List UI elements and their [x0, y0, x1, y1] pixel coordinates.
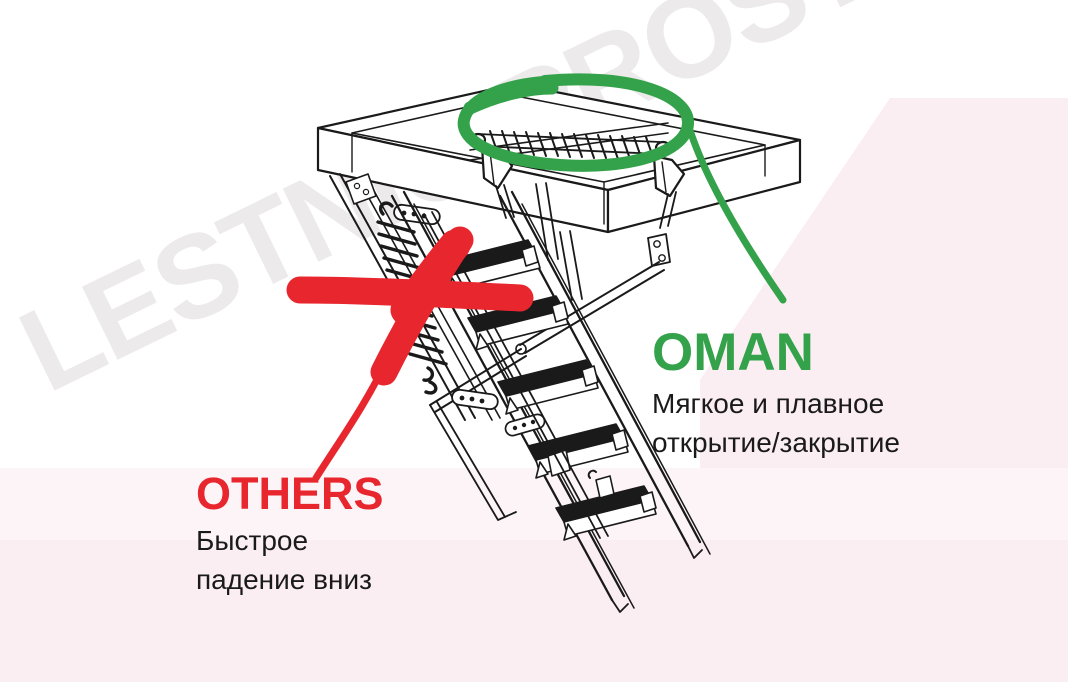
oman-description-line1: Мягкое и плавное: [652, 385, 900, 424]
oman-description-line2: открытие/закрытие: [652, 424, 900, 463]
others-description-line1: Быстрое: [196, 522, 384, 561]
callout-others: OTHERS Быстрое падение вниз: [196, 471, 384, 599]
others-description-line2: падение вниз: [196, 561, 384, 600]
oman-title: OMAN: [652, 326, 900, 379]
others-title: OTHERS: [196, 471, 384, 516]
callout-oman: OMAN Мягкое и плавное открытие/закрытие: [652, 326, 900, 462]
callout-labels: OMAN Мягкое и плавное открытие/закрытие …: [0, 0, 1068, 682]
illustration-canvas: LESTNIC-PROSTO.RU: [0, 0, 1068, 682]
